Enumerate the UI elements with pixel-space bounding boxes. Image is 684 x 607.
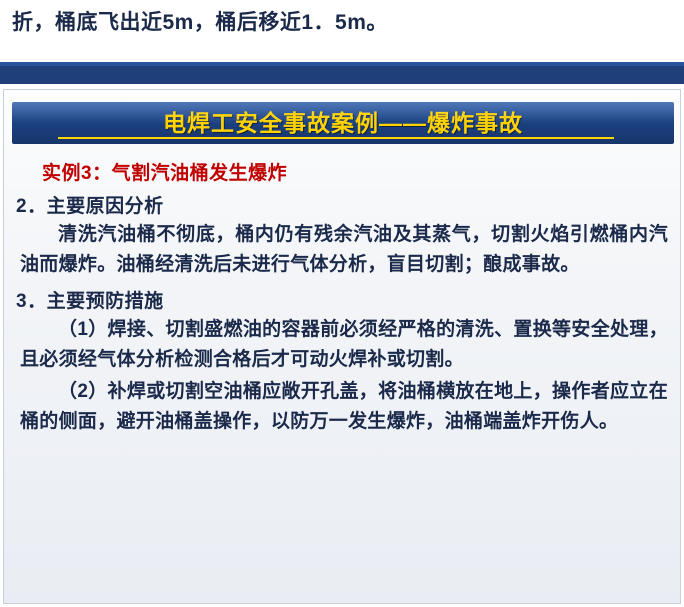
previous-slide-fragment: 折，桶底飞出近5m，桶后移近1．5m。 [0, 0, 684, 86]
section-paragraph-prevention-1: （1）焊接、切割盛燃油的容器前必须经严格的清洗、置换等安全处理，且必须经气体分析… [20, 315, 668, 375]
section-paragraph-prevention-2: （2）补焊或切割空油桶应敞开孔盖，将油桶横放在地上，操作者应立在桶的侧面，避开油… [20, 377, 668, 437]
slide-header-underline [58, 137, 614, 139]
slide-content: 实例3：气割汽油桶发生爆炸 2．主要原因分析 清洗汽油桶不彻底，桶内仍有残余汽油… [14, 152, 674, 600]
slide-canvas: 折，桶底飞出近5m，桶后移近1．5m。 电焊工安全事故案例——爆炸事故 实例3：… [0, 0, 684, 607]
section-heading-prevention: 3．主要预防措施 [16, 286, 674, 313]
section-heading-cause: 2．主要原因分析 [16, 191, 674, 218]
slide-divider-highlight [0, 62, 684, 66]
previous-slide-text: 折，桶底飞出近5m，桶后移近1．5m。 [12, 6, 388, 36]
section-paragraph-cause: 清洗汽油桶不彻底，桶内仍有残余汽油及其蒸气，切割火焰引燃桶内汽油而爆炸。油桶经清… [20, 220, 668, 280]
slide-body-frame: 电焊工安全事故案例——爆炸事故 实例3：气割汽油桶发生爆炸 2．主要原因分析 清… [3, 89, 681, 604]
slide-divider-bar [0, 62, 684, 84]
slide-body: 电焊工安全事故案例——爆炸事故 实例3：气割汽油桶发生爆炸 2．主要原因分析 清… [0, 86, 684, 607]
slide-header-band: 电焊工安全事故案例——爆炸事故 [12, 102, 674, 144]
case-title: 实例3：气割汽油桶发生爆炸 [42, 158, 674, 185]
